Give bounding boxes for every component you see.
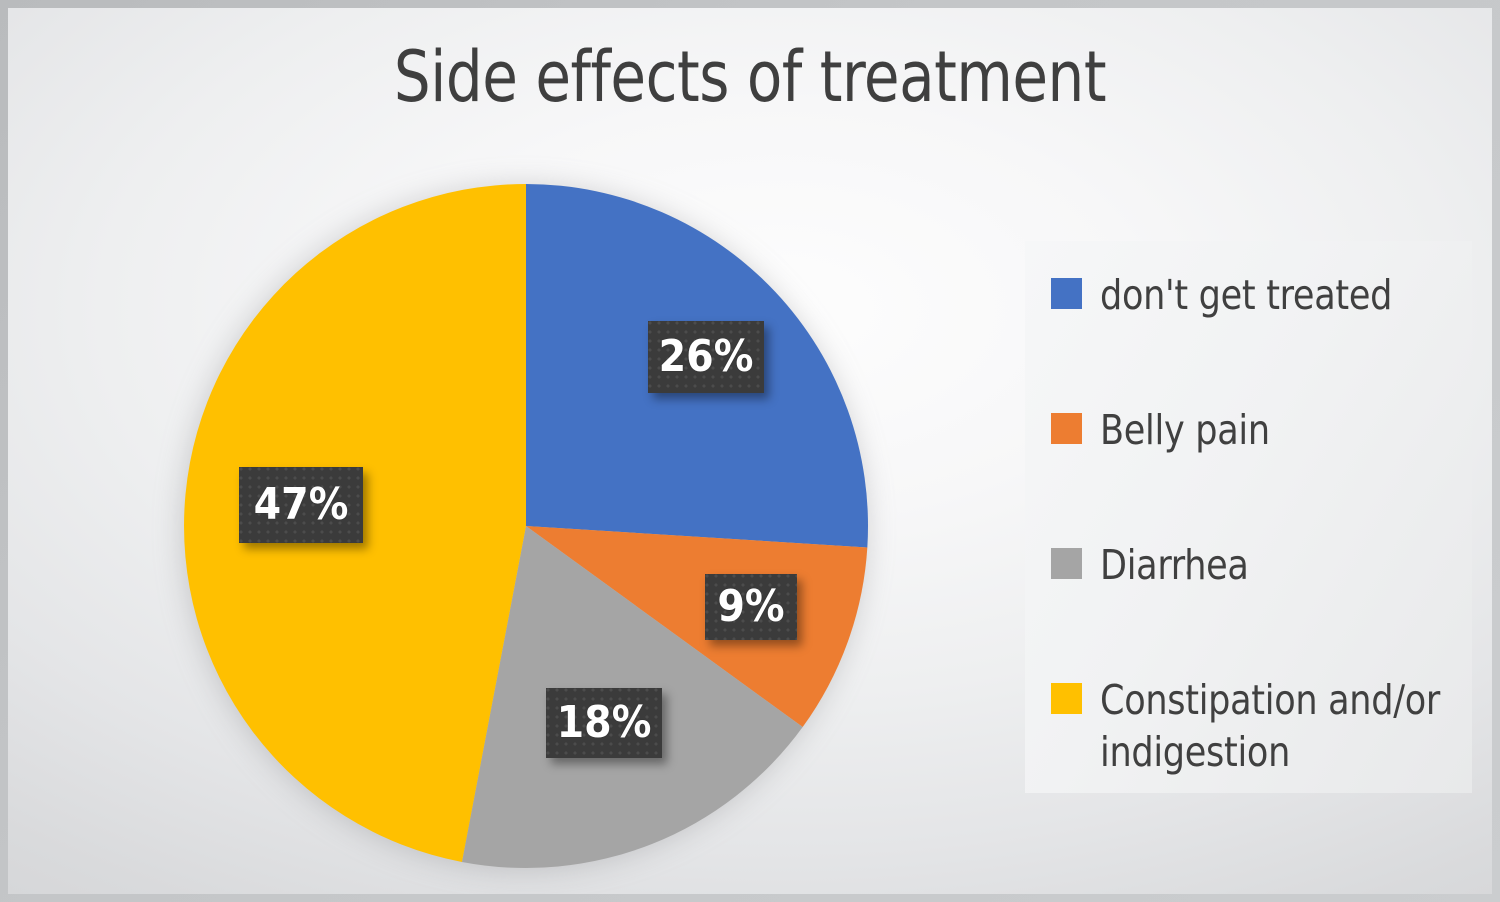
data-label-constipation: 47% xyxy=(239,467,363,543)
legend-item-belly-pain[interactable]: Belly pain xyxy=(1051,404,1461,456)
legend-label-diarrhea: Diarrhea xyxy=(1100,539,1249,591)
legend-swatch-blue-icon xyxy=(1051,278,1082,309)
legend-label-belly-pain: Belly pain xyxy=(1100,404,1270,456)
data-label-dont-get-treated: 26% xyxy=(648,321,764,393)
legend-item-diarrhea[interactable]: Diarrhea xyxy=(1051,539,1461,591)
data-label-diarrhea: 18% xyxy=(546,688,662,758)
chart-legend: don't get treated Belly pain Diarrhea Co… xyxy=(1025,241,1472,793)
legend-swatch-gray-icon xyxy=(1051,548,1082,579)
data-label-belly-pain: 9% xyxy=(705,574,797,640)
legend-label-constipation: Constipation and/or indigestion xyxy=(1100,674,1443,779)
legend-item-dont-get-treated[interactable]: don't get treated xyxy=(1051,269,1461,321)
page-title: Side effects of treatment xyxy=(67,36,1432,118)
legend-label-dont-get-treated: don't get treated xyxy=(1100,269,1392,321)
legend-swatch-orange-icon xyxy=(1051,413,1082,444)
chart-canvas: Side effects of treatment 26% 9% 18% 47%… xyxy=(8,8,1492,894)
legend-item-constipation[interactable]: Constipation and/or indigestion xyxy=(1051,674,1461,779)
legend-swatch-yellow-icon xyxy=(1051,683,1082,714)
slide-frame: Side effects of treatment 26% 9% 18% 47%… xyxy=(0,0,1500,902)
